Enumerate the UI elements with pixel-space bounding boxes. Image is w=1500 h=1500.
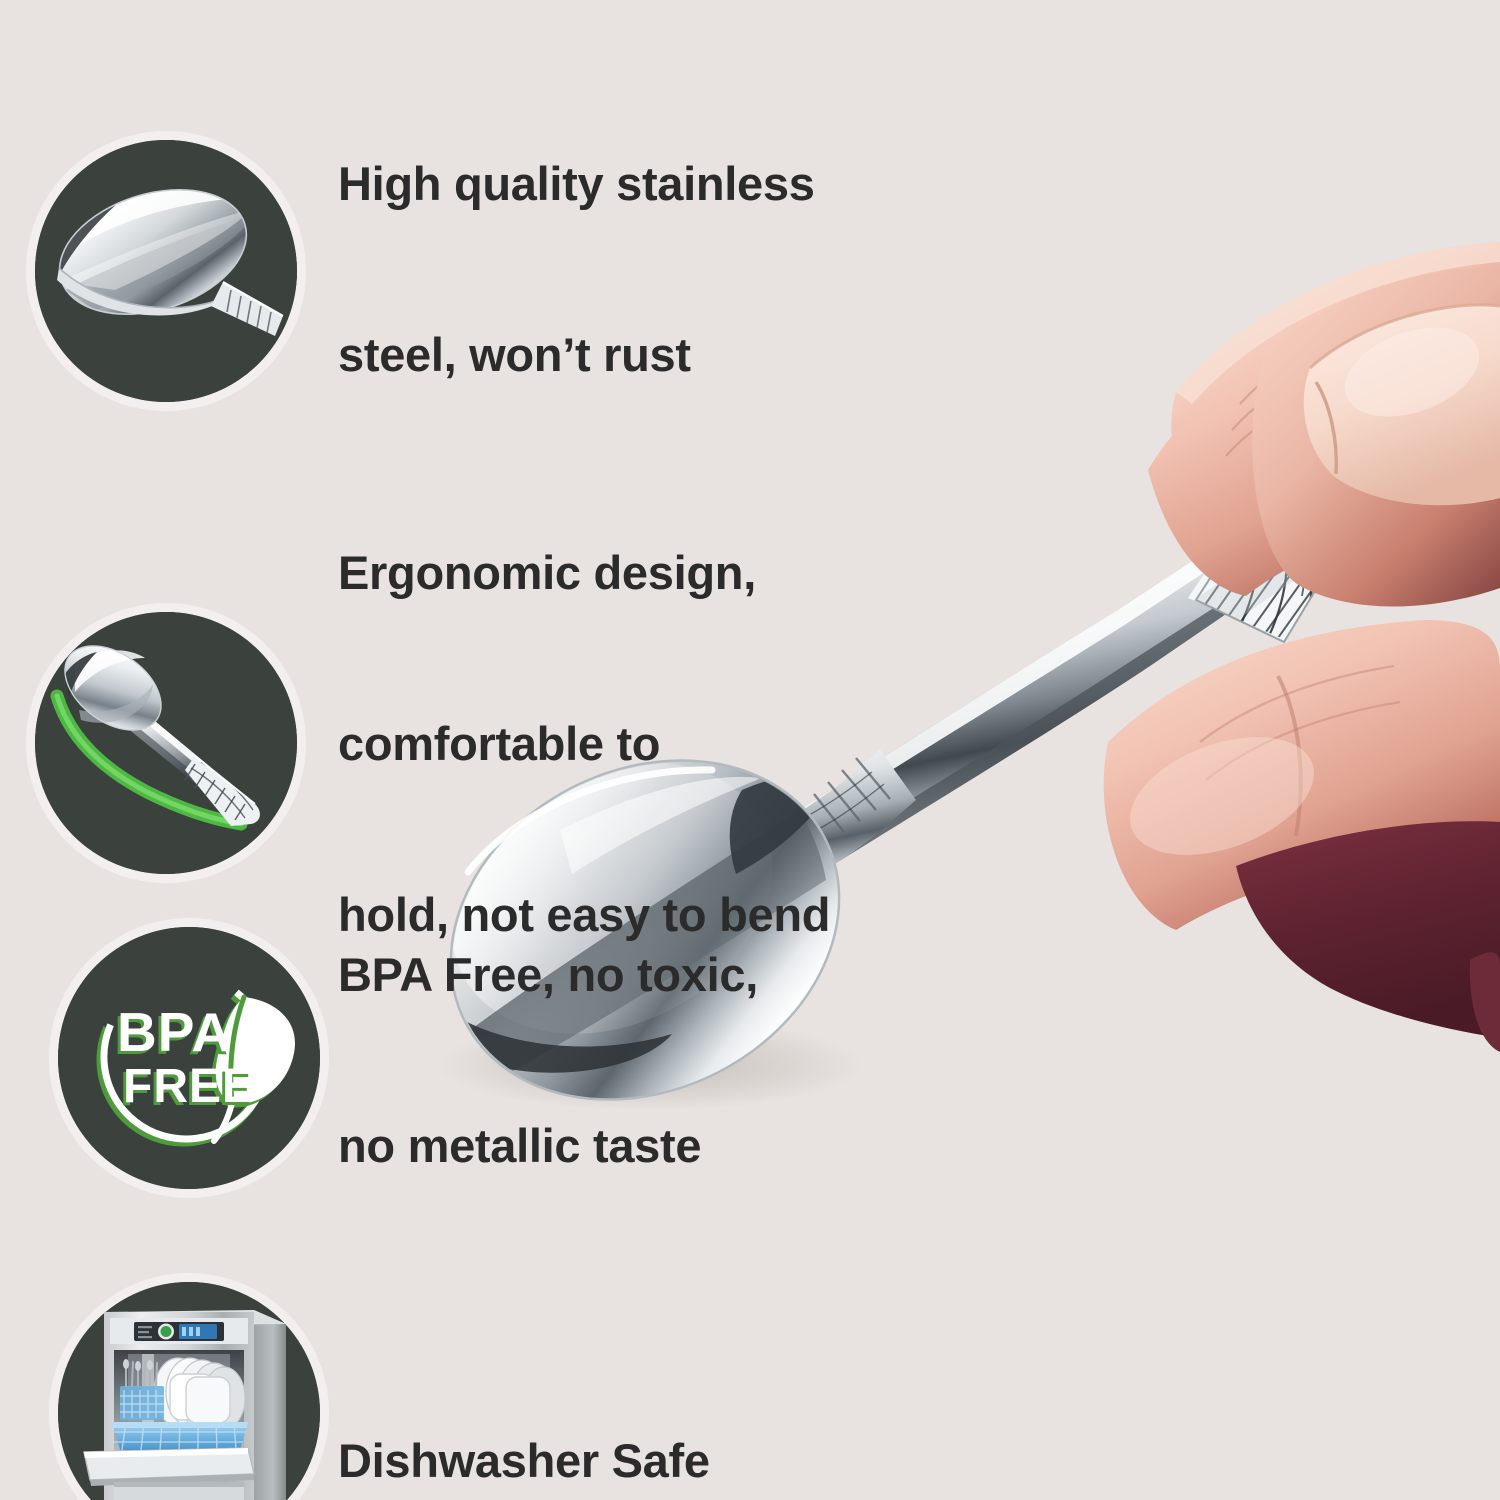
- caption-line: Dishwasher Safe: [338, 1432, 710, 1489]
- bpa-icon-line1: BPA: [117, 1001, 232, 1063]
- feature-caption-dishwasher-safe: Dishwasher Safe: [338, 1318, 710, 1500]
- bpa-free-leaf-icon: BPA FREE BPA FREE: [58, 927, 320, 1189]
- product-feature-infographic: High quality stainless steel, won’t rust: [0, 0, 1500, 1500]
- caption-line: Ergonomic design,: [338, 544, 830, 601]
- dishwasher-icon: [58, 1282, 320, 1500]
- bpa-icon-line2: FREE: [123, 1060, 255, 1113]
- caption-line: High quality stainless: [338, 155, 815, 212]
- spoon-bowl-closeup-icon: [35, 140, 297, 402]
- feature-caption-bpa-free: BPA Free, no toxic, no metallic taste: [338, 832, 758, 1288]
- feature-row-dishwasher-safe: Dishwasher Safe: [58, 1222, 710, 1500]
- caption-line: steel, won’t rust: [338, 326, 815, 383]
- caption-line: no metallic taste: [338, 1117, 758, 1174]
- feature-row-bpa-free: BPA FREE BPA FREE BPA Free, no toxic, no…: [58, 828, 758, 1288]
- caption-line: BPA Free, no toxic,: [338, 946, 758, 1003]
- caption-line: comfortable to: [338, 715, 830, 772]
